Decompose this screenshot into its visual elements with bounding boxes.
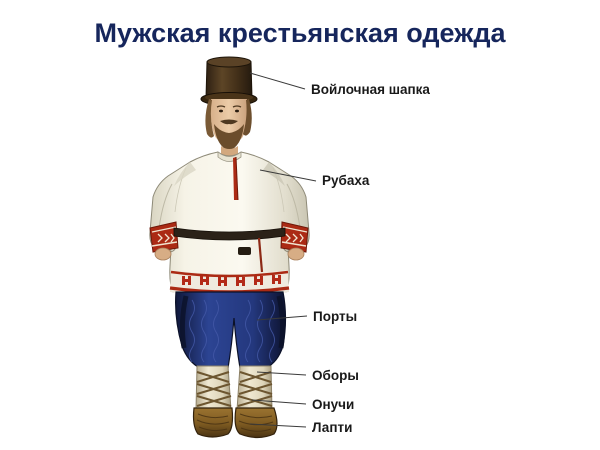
callout-label-porty: Порты (313, 310, 357, 324)
felt-hat-graphic (201, 57, 257, 106)
callout-label-shirt: Рубаха (322, 174, 369, 188)
lapti-left-graphic (194, 408, 233, 437)
lapti-right-graphic (235, 408, 277, 438)
callout-label-hat: Войлочная шапка (311, 83, 430, 97)
peasant-costume-illustration (0, 0, 600, 450)
callout-label-lapti: Лапти (312, 421, 352, 435)
shirt-graphic (150, 152, 309, 296)
trousers-graphic (176, 292, 286, 368)
onuchi-right-graphic (237, 366, 272, 410)
callout-label-obory: Оборы (312, 369, 359, 383)
head-graphic (205, 99, 251, 156)
callout-label-onuchi: Онучи (312, 398, 354, 412)
onuchi-left-graphic (196, 366, 231, 410)
slide-canvas: Мужская крестьянская одежда (0, 0, 600, 450)
